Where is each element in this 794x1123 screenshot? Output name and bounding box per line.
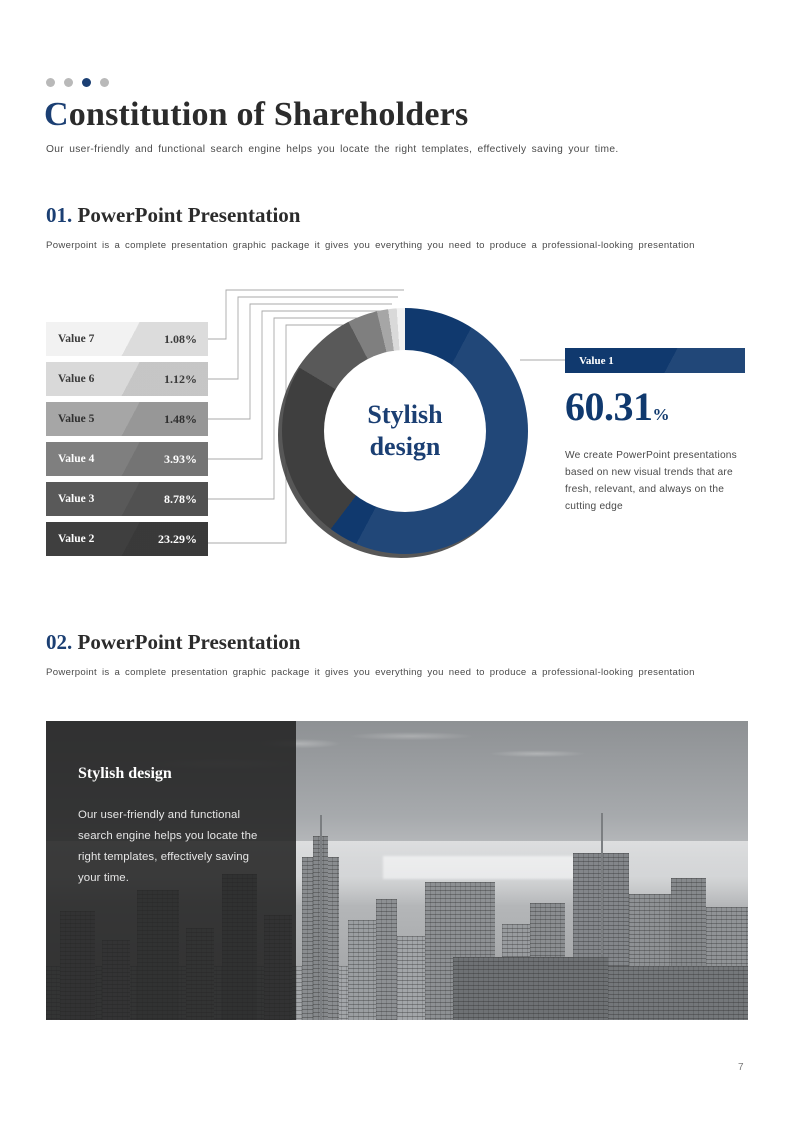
value-bar-label: Value 3: [58, 493, 94, 505]
value-bar-row[interactable]: Value 5 1.48%: [46, 402, 208, 436]
value-bar-label: Value 6: [58, 373, 94, 385]
value-bar-percent: 1.12%: [164, 372, 197, 387]
section-02-body: Powerpoint is a complete presentation gr…: [46, 665, 752, 681]
value-bar-row[interactable]: Value 3 8.78%: [46, 482, 208, 516]
page-subtitle: Our user-friendly and functional search …: [46, 144, 746, 155]
donut-center-line2: design: [370, 431, 441, 463]
progress-dot-4[interactable]: [100, 78, 109, 87]
value-bar-label: Value 4: [58, 453, 94, 465]
section-02-title: PowerPoint Presentation: [78, 630, 301, 654]
value-bar-percent: 8.78%: [164, 492, 197, 507]
section-01-number: 01.: [46, 203, 72, 227]
value-bars-list: Value 7 1.08% Value 6 1.12% Value 5 1.48…: [46, 322, 208, 562]
page-title-rest: onstitution of Shareholders: [69, 96, 469, 133]
value-bar-label: Value 2: [58, 533, 94, 545]
value-bar-percent: 1.48%: [164, 412, 197, 427]
section-01-title: PowerPoint Presentation: [78, 203, 301, 227]
section-02-heading: 02. PowerPoint Presentation: [46, 630, 300, 655]
value-bar-row[interactable]: Value 6 1.12%: [46, 362, 208, 396]
photo-overlay-text: Our user-friendly and functional search …: [78, 805, 274, 889]
page-title-lead-letter: C: [44, 96, 69, 133]
city-photo-panel: Stylish design Our user-friendly and fun…: [46, 721, 748, 1020]
section-01-body: Powerpoint is a complete presentation gr…: [46, 238, 752, 254]
callout-percent-sign: %: [653, 405, 670, 424]
value-bar-percent: 1.08%: [164, 332, 197, 347]
callout-number: 60.31: [565, 384, 653, 429]
slide-progress-dots: [46, 78, 109, 87]
photo-overlay-title: Stylish design: [78, 765, 172, 783]
donut-center-label: Stylish design: [324, 350, 486, 512]
callout-tag-label: Value 1: [579, 355, 614, 367]
progress-dot-1[interactable]: [46, 78, 55, 87]
donut-center-line1: Stylish: [367, 399, 442, 431]
callout-description: We create PowerPoint presentations based…: [565, 447, 737, 515]
value-bar-label: Value 7: [58, 333, 94, 345]
progress-dot-2[interactable]: [64, 78, 73, 87]
value-bar-percent: 3.93%: [164, 452, 197, 467]
value-bar-percent: 23.29%: [158, 532, 197, 547]
value-bar-row[interactable]: Value 4 3.93%: [46, 442, 208, 476]
callout-tag[interactable]: Value 1: [565, 348, 745, 373]
section-02-number: 02.: [46, 630, 72, 654]
highlight-callout: Value 1 60.31% We create PowerPoint pres…: [565, 348, 745, 515]
value-bar-row[interactable]: Value 7 1.08%: [46, 322, 208, 356]
donut-chart: Stylish design: [272, 302, 534, 564]
progress-dot-3[interactable]: [82, 78, 91, 87]
value-bar-row[interactable]: Value 2 23.29%: [46, 522, 208, 556]
slide-page: Constitution of Shareholders Our user-fr…: [0, 0, 794, 1123]
callout-value: 60.31%: [565, 387, 745, 435]
page-number: 7: [738, 1062, 744, 1073]
section-01-heading: 01. PowerPoint Presentation: [46, 203, 300, 228]
value-bar-label: Value 5: [58, 413, 94, 425]
page-title: Constitution of Shareholders: [44, 96, 468, 134]
